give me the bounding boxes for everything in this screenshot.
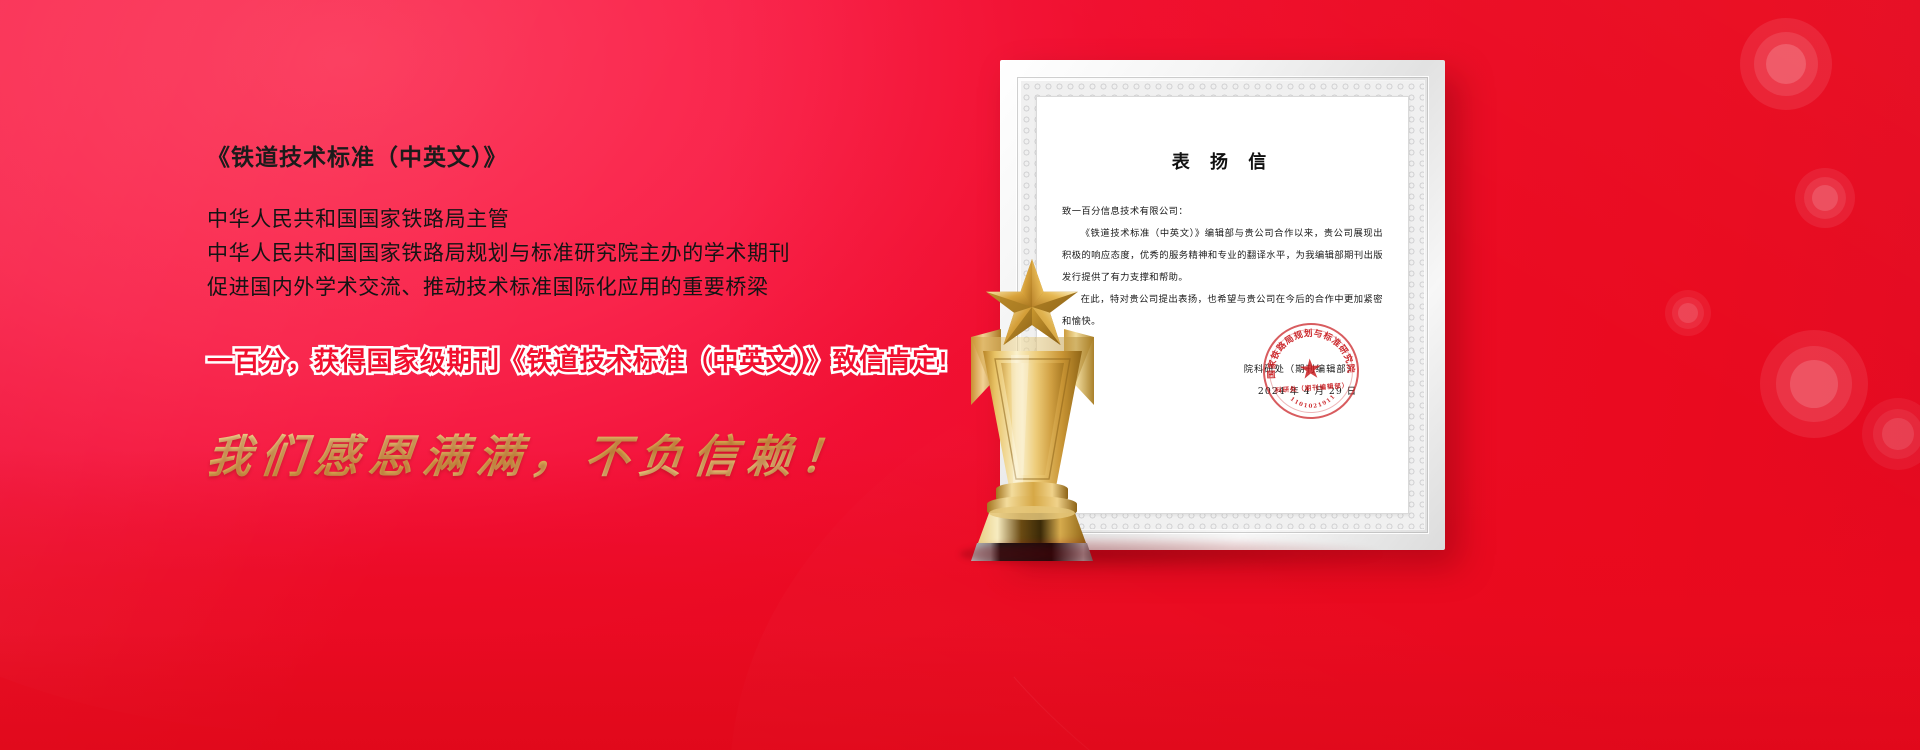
certificate-salutation: 致一百分信息技术有限公司： bbox=[1062, 201, 1383, 223]
bokeh-circle bbox=[1665, 290, 1711, 336]
official-seal-stamp: 国家铁路局规划与标准研究院 1101021911 ★ 科研处（期刊编辑部） bbox=[1260, 320, 1362, 422]
bokeh-ring-mid bbox=[1776, 346, 1852, 422]
bokeh-circle bbox=[1795, 168, 1855, 228]
journal-info-line: 中华人民共和国国家铁路局主管 bbox=[207, 203, 967, 237]
certificate-title: 表 扬 信 bbox=[1062, 148, 1383, 174]
bokeh-ring-mid bbox=[1873, 409, 1920, 459]
bokeh-ring-mid bbox=[1804, 177, 1846, 219]
trophy-shadow bbox=[960, 537, 1380, 571]
award-banner: 《铁道技术标准（中英文）》 中华人民共和国国家铁路局主管 中华人民共和国国家铁路… bbox=[0, 0, 1920, 750]
bokeh-circle bbox=[1760, 330, 1868, 438]
slogan-text: 我们感恩满满，不负信赖！ bbox=[204, 420, 859, 485]
bokeh-ring-core bbox=[1882, 418, 1914, 450]
journal-title: 《铁道技术标准（中英文）》 bbox=[207, 140, 967, 174]
certificate-signature-block: 国家铁路局规划与标准研究院 1101021911 ★ 科研处（期刊编辑部） 院科… bbox=[1062, 359, 1383, 403]
journal-info-lines: 中华人民共和国国家铁路局主管 中华人民共和国国家铁路局规划与标准研究院主办的学术… bbox=[207, 203, 967, 305]
bokeh-ring-core bbox=[1790, 360, 1838, 408]
text-column: 《铁道技术标准（中英文）》 中华人民共和国国家铁路局主管 中华人民共和国国家铁路… bbox=[207, 140, 967, 485]
bokeh-ring-core bbox=[1766, 44, 1806, 84]
bokeh-ring-mid bbox=[1672, 297, 1704, 329]
headline-text: 一百分，获得国家级期刊《铁道技术标准（中英文）》致信肯定! bbox=[207, 341, 967, 378]
trophy-graphic bbox=[925, 255, 1140, 565]
journal-info-line: 中华人民共和国国家铁路局规划与标准研究院主办的学术期刊 bbox=[207, 237, 967, 271]
bokeh-ring-core bbox=[1812, 185, 1838, 211]
bokeh-ring-core bbox=[1678, 303, 1698, 323]
journal-info-line: 促进国内外学术交流、推动技术标准国际化应用的重要桥梁 bbox=[207, 271, 967, 305]
bokeh-circle bbox=[1740, 18, 1832, 110]
gold-star-trophy bbox=[925, 255, 1140, 565]
bokeh-ring-mid bbox=[1754, 32, 1818, 96]
